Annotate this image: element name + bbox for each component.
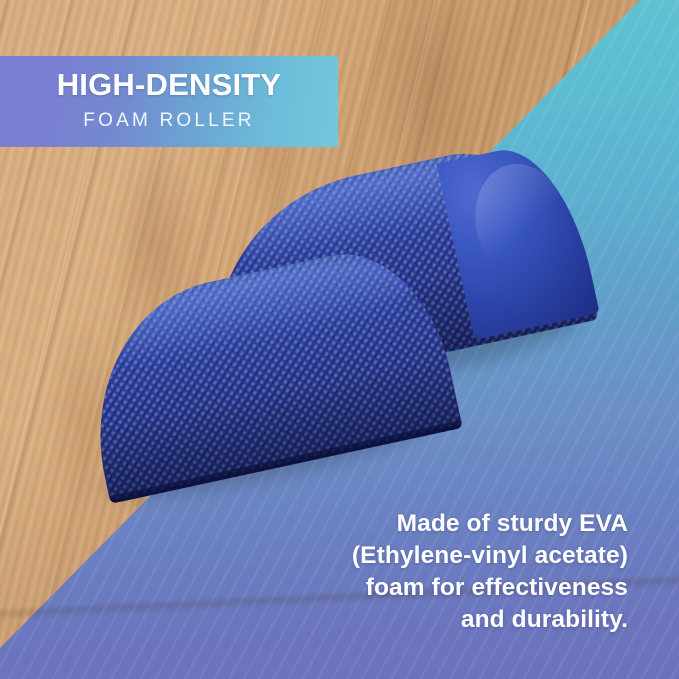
callout-line-1: Made of sturdy EVA: [318, 508, 628, 540]
headline-subtitle: FOAM ROLLER: [83, 111, 254, 130]
feature-callout-text: Made of sturdy EVA (Ethylene-vinyl aceta…: [318, 508, 628, 635]
callout-line-2: (Ethylene-vinyl acetate): [318, 540, 628, 572]
callout-line-3: foam for effectiveness: [318, 572, 628, 604]
product-image-canvas: HIGH-DENSITY FOAM ROLLER Made of sturdy …: [0, 0, 679, 679]
headline-title: HIGH-DENSITY: [57, 69, 282, 100]
headline-banner: HIGH-DENSITY FOAM ROLLER: [0, 56, 338, 147]
callout-line-4: and durability.: [318, 604, 628, 636]
